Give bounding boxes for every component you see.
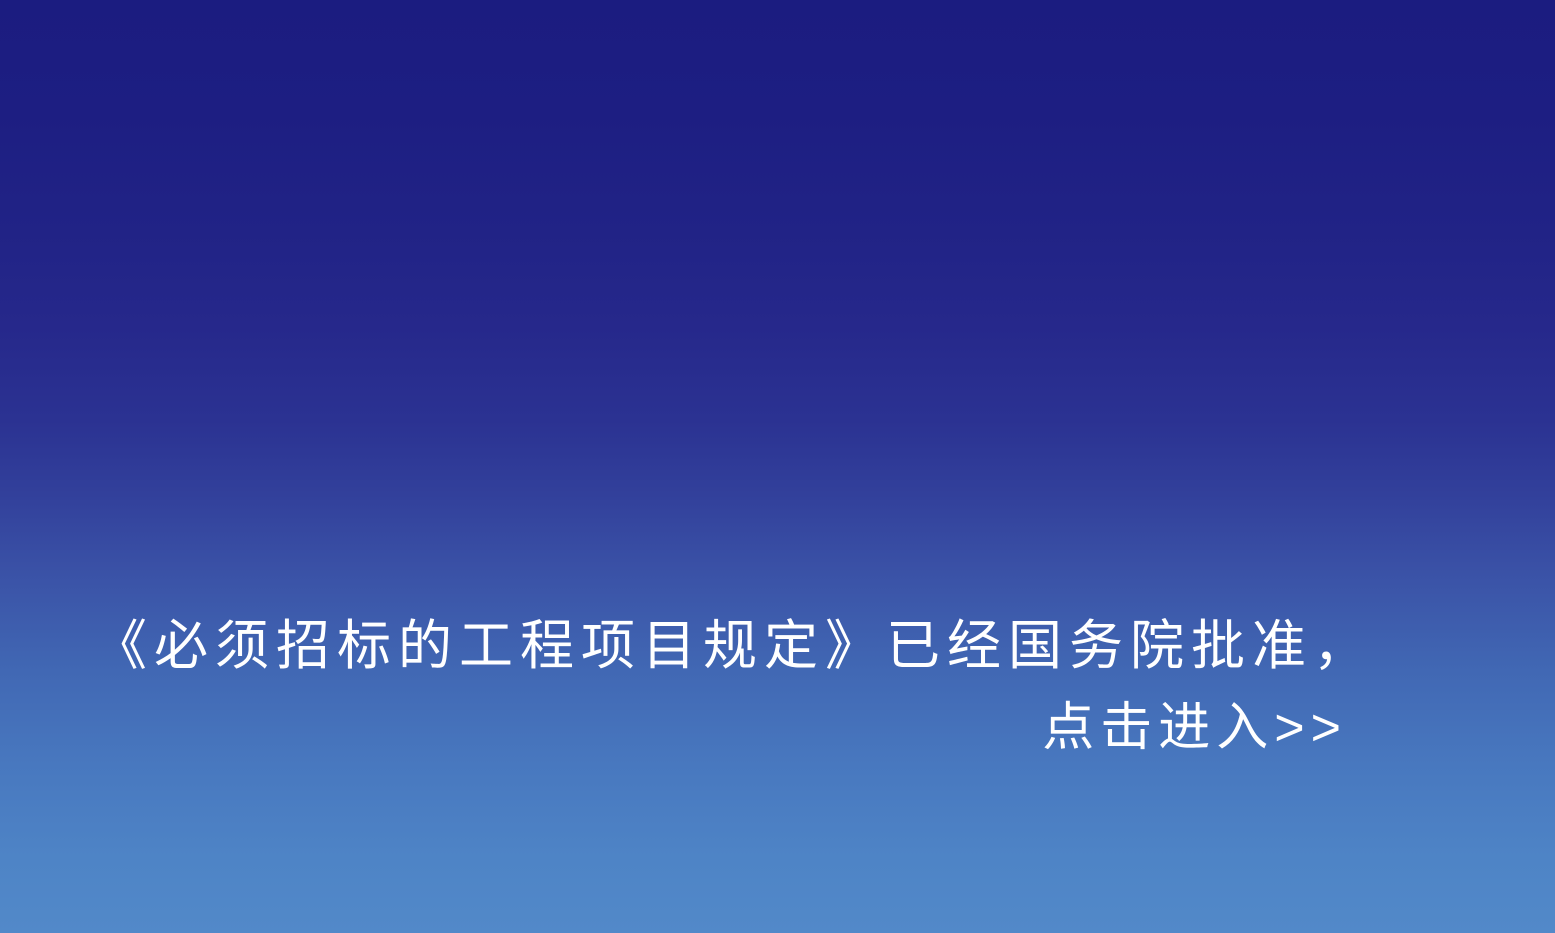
enter-link-container: 点击进入>> [0, 692, 1555, 764]
announcement-text: 《必须招标的工程项目规定》已经国务院批准， 现予公布，自2018年6月1日起施行… [93, 336, 1463, 933]
enter-link[interactable]: 点击进入>> [1042, 702, 1347, 754]
announcement-line-1: 《必须招标的工程项目规定》已经国务院批准， [93, 584, 1463, 708]
announcement-banner: 《必须招标的工程项目规定》已经国务院批准， 现予公布，自2018年6月1日起施行… [0, 0, 1555, 933]
